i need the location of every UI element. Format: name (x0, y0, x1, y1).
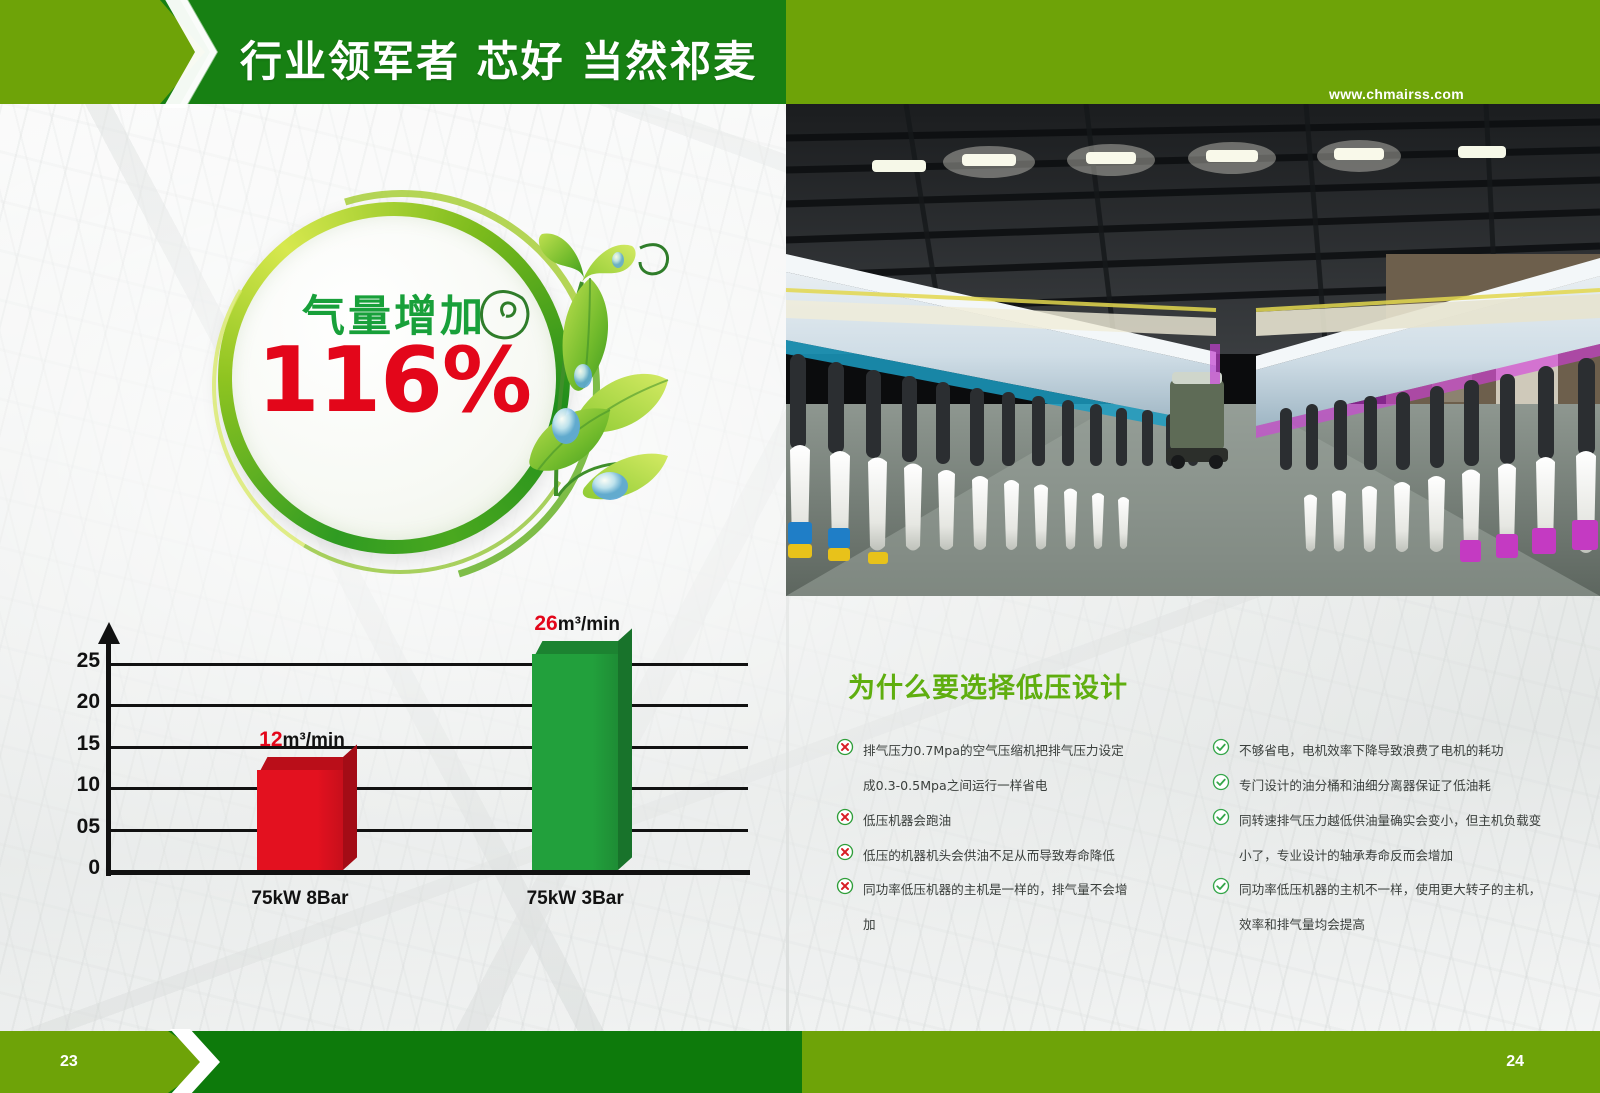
list-item-text-continued: 成0.3-0.5Mpa之间运行一样省电 (836, 771, 1188, 802)
list-item-text-continued: 加 (836, 910, 1188, 941)
list-item-text: 排气压力0.7Mpa的空气压缩机把排气压力设定 (863, 736, 1124, 767)
footer-light-band-right (800, 1031, 1600, 1093)
list-item: 专门设计的油分桶和油细分离器保证了低油耗 (1212, 771, 1564, 802)
leaf-ornament-icon (464, 204, 674, 514)
list-item-text-continued: 效率和排气量均会提高 (1212, 910, 1564, 941)
cross-icon (836, 808, 854, 826)
cross-icon (836, 843, 854, 861)
page-header: 行业领军者 芯好 当然祁麦 www.chmairss.com (0, 0, 1600, 104)
y-tick-label: 10 (56, 773, 100, 797)
stat-badge: 气量增加 116% (196, 184, 666, 574)
y-tick-label: 25 (56, 649, 100, 673)
gridline (108, 787, 748, 790)
pros-column: 不够省电，电机效率下降导致浪费了电机的耗功专门设计的油分桶和油细分离器保证了低油… (1212, 736, 1564, 945)
page-number-right: 24 (1506, 1053, 1524, 1071)
list-item: 同转速排气压力越低供油量确实会变小，但主机负载变 (1212, 806, 1564, 837)
gridline (108, 663, 748, 666)
y-tick (108, 704, 120, 707)
list-item-text: 同转速排气压力越低供油量确实会变小，但主机负载变 (1239, 806, 1541, 837)
list-item: 低压机器会跑油 (836, 806, 1188, 837)
cons-column: 排气压力0.7Mpa的空气压缩机把排气压力设定成0.3-0.5Mpa之间运行一样… (836, 736, 1188, 945)
check-icon (1212, 877, 1230, 895)
list-item: 同功率低压机器的主机是一样的，排气量不会增 (836, 875, 1188, 906)
bar-face (532, 654, 618, 870)
cross-icon (836, 738, 854, 756)
check-icon (1212, 773, 1230, 791)
gridline (108, 704, 748, 707)
bar-face (257, 770, 343, 870)
y-tick-label: 05 (56, 815, 100, 839)
bar-2 (532, 654, 618, 870)
list-item: 同功率低压机器的主机不一样，使用更大转子的主机， (1212, 875, 1564, 906)
bar-top-face (536, 641, 629, 654)
page-number-left: 23 (60, 1053, 78, 1071)
list-item-text: 不够省电，电机效率下降导致浪费了电机的耗功 (1239, 736, 1503, 767)
y-tick-label: 0 (56, 856, 100, 880)
gridline (108, 829, 748, 832)
gridline (108, 746, 748, 749)
page-title: 行业领军者 芯好 当然祁麦 (240, 28, 757, 89)
footer-light-chevron-block (0, 1031, 212, 1093)
list-item-text: 同功率低压机器的主机是一样的，排气量不会增 (863, 875, 1127, 906)
bar-side-face (343, 745, 357, 870)
cross-icon (836, 877, 854, 895)
bar-value-label: 12m³/min (242, 728, 362, 752)
list-item: 不够省电，电机效率下降导致浪费了电机的耗功 (1212, 736, 1564, 767)
check-icon (1212, 738, 1230, 756)
brochure-spread: 行业领军者 芯好 当然祁麦 www.chmairss.com 气量增加 116% (0, 0, 1600, 1093)
list-item-text: 专门设计的油分桶和油细分离器保证了低油耗 (1239, 771, 1491, 802)
website-url[interactable]: www.chmairss.com (1329, 86, 1464, 102)
footer-dark-edge (786, 1031, 802, 1093)
y-tick-label: 15 (56, 732, 100, 756)
bar-top-face (261, 757, 354, 770)
y-tick (108, 746, 120, 749)
panel-title: 为什么要选择低压设计 (848, 666, 1128, 705)
check-icon (1212, 808, 1230, 826)
y-axis-line (106, 640, 111, 876)
bar-1 (257, 770, 343, 870)
list-item: 低压的机器机头会供油不足从而导致寿命降低 (836, 841, 1188, 872)
y-tick (108, 829, 120, 832)
air-volume-bar-chart: 00510152025 12m³/min75kW 8Bar26m³/min75k… (60, 616, 760, 916)
bar-side-face (618, 629, 632, 870)
list-item-text: 低压机器会跑油 (863, 806, 951, 837)
header-url-band (786, 0, 1600, 104)
why-low-pressure-panel: 为什么要选择低压设计 排气压力0.7Mpa的空气压缩机把排气压力设定成0.3-0… (786, 596, 1600, 1031)
list-item-text: 同功率低压机器的主机不一样，使用更大转子的主机， (1239, 875, 1541, 906)
list-item: 排气压力0.7Mpa的空气压缩机把排气压力设定 (836, 736, 1188, 767)
y-tick (108, 787, 120, 790)
bar-category-label: 75kW 8Bar (220, 888, 380, 910)
list-item-text: 低压的机器机头会供油不足从而导致寿命降低 (863, 841, 1115, 872)
y-tick-label: 20 (56, 690, 100, 714)
y-tick (108, 663, 120, 666)
list-item-text-continued: 小了，专业设计的轴承寿命反而会增加 (1212, 841, 1564, 872)
page-footer: 23 24 (0, 1031, 1600, 1093)
textile-spinning-factory-photo (786, 104, 1600, 596)
bar-value-label: 26m³/min (517, 612, 637, 636)
x-axis-line (106, 870, 750, 875)
bar-category-label: 75kW 3Bar (495, 888, 655, 910)
